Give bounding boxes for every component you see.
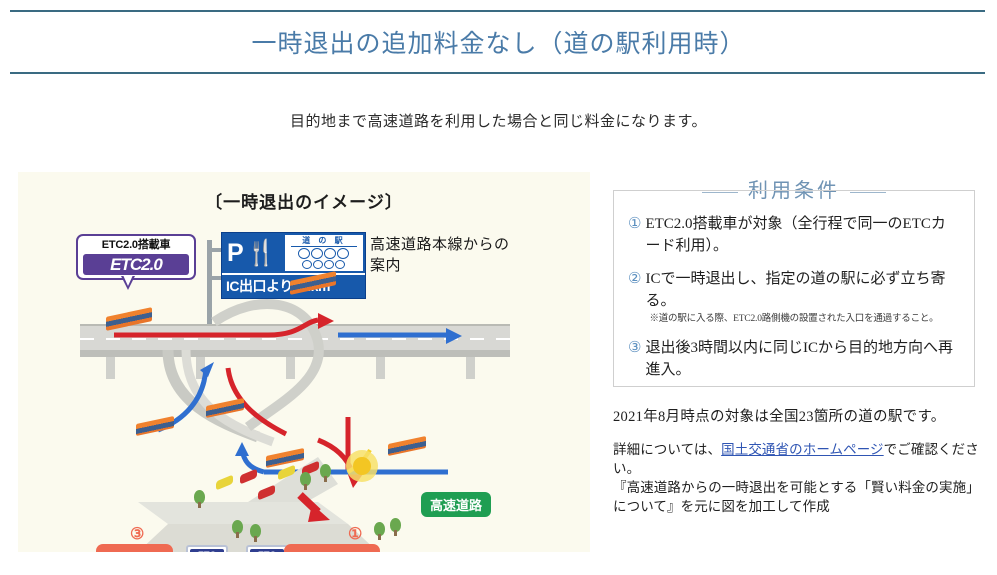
step-1-label: 一時退出: [284, 544, 380, 552]
conditions-box: ① ETC2.0搭載車が対象（全行程で同一のETCカード利用）。 ② ICで一時…: [613, 190, 975, 387]
etc-gate-exit: ETC: [246, 545, 288, 552]
condition-marker: ③: [628, 337, 641, 381]
etc-gate-reentry: ETC: [186, 545, 228, 552]
header-rule-top: [10, 10, 985, 12]
header-rule-bottom: [10, 72, 985, 74]
etc-gate-label: ETC: [190, 549, 224, 552]
temporary-exit-diagram: 〔一時退出のイメージ〕 ETC2.0搭載車 ETC2.0 P🍴 道 の 駅: [18, 172, 590, 552]
footer-notes: 詳細については、国土交通省のホームページでご確認ください。 『高速道路からの一時…: [613, 440, 985, 516]
badge-highway: 高速道路: [421, 492, 491, 517]
condition-item-3: ③ 退出後3時間以内に同じICから目的地方向へ再進入。: [628, 337, 960, 381]
target-count-text: 2021年8月時点の対象は全国23箇所の道の駅です。: [613, 405, 946, 426]
etc-gate-label: ETC: [250, 549, 284, 552]
step-3-label: 再進入: [96, 544, 173, 552]
condition-marker: ②: [628, 268, 641, 326]
mlit-homepage-link[interactable]: 国土交通省のホームページ: [721, 442, 884, 457]
condition-text: ICで一時退出し、指定の道の駅に必ず立ち寄る。: [645, 268, 960, 312]
condition-item-2: ② ICで一時退出し、指定の道の駅に必ず立ち寄る。 ※道の駅に入る際、ETC2.…: [628, 268, 960, 326]
step-1-number: ①: [348, 524, 362, 544]
condition-text: ETC2.0搭載車が対象（全行程で同一のETCカード利用）。: [645, 213, 960, 257]
ramp-and-flow-arrows: [18, 172, 590, 552]
lede-text: 目的地まで高速道路を利用した場合と同じ料金になります。: [0, 110, 997, 131]
condition-note: ※道の駅に入る際、ETC2.0路側機の設置された入口を通過すること。: [649, 313, 960, 326]
page-title: 一時退出の追加料金なし（道の駅利用時）: [0, 24, 997, 60]
source-note: 『高速道路からの一時退出を可能とする「賢い料金の実施」について』を元に図を加工し…: [613, 478, 985, 516]
condition-marker: ①: [628, 213, 641, 257]
condition-text: 退出後3時間以内に同じICから目的地方向へ再進入。: [645, 337, 960, 381]
condition-item-1: ① ETC2.0搭載車が対象（全行程で同一のETCカード利用）。: [628, 213, 960, 257]
step-3-number: ③: [130, 524, 144, 544]
detail-prefix: 詳細については、: [613, 442, 721, 457]
detail-line: 詳細については、国土交通省のホームページでご確認ください。: [613, 440, 985, 478]
